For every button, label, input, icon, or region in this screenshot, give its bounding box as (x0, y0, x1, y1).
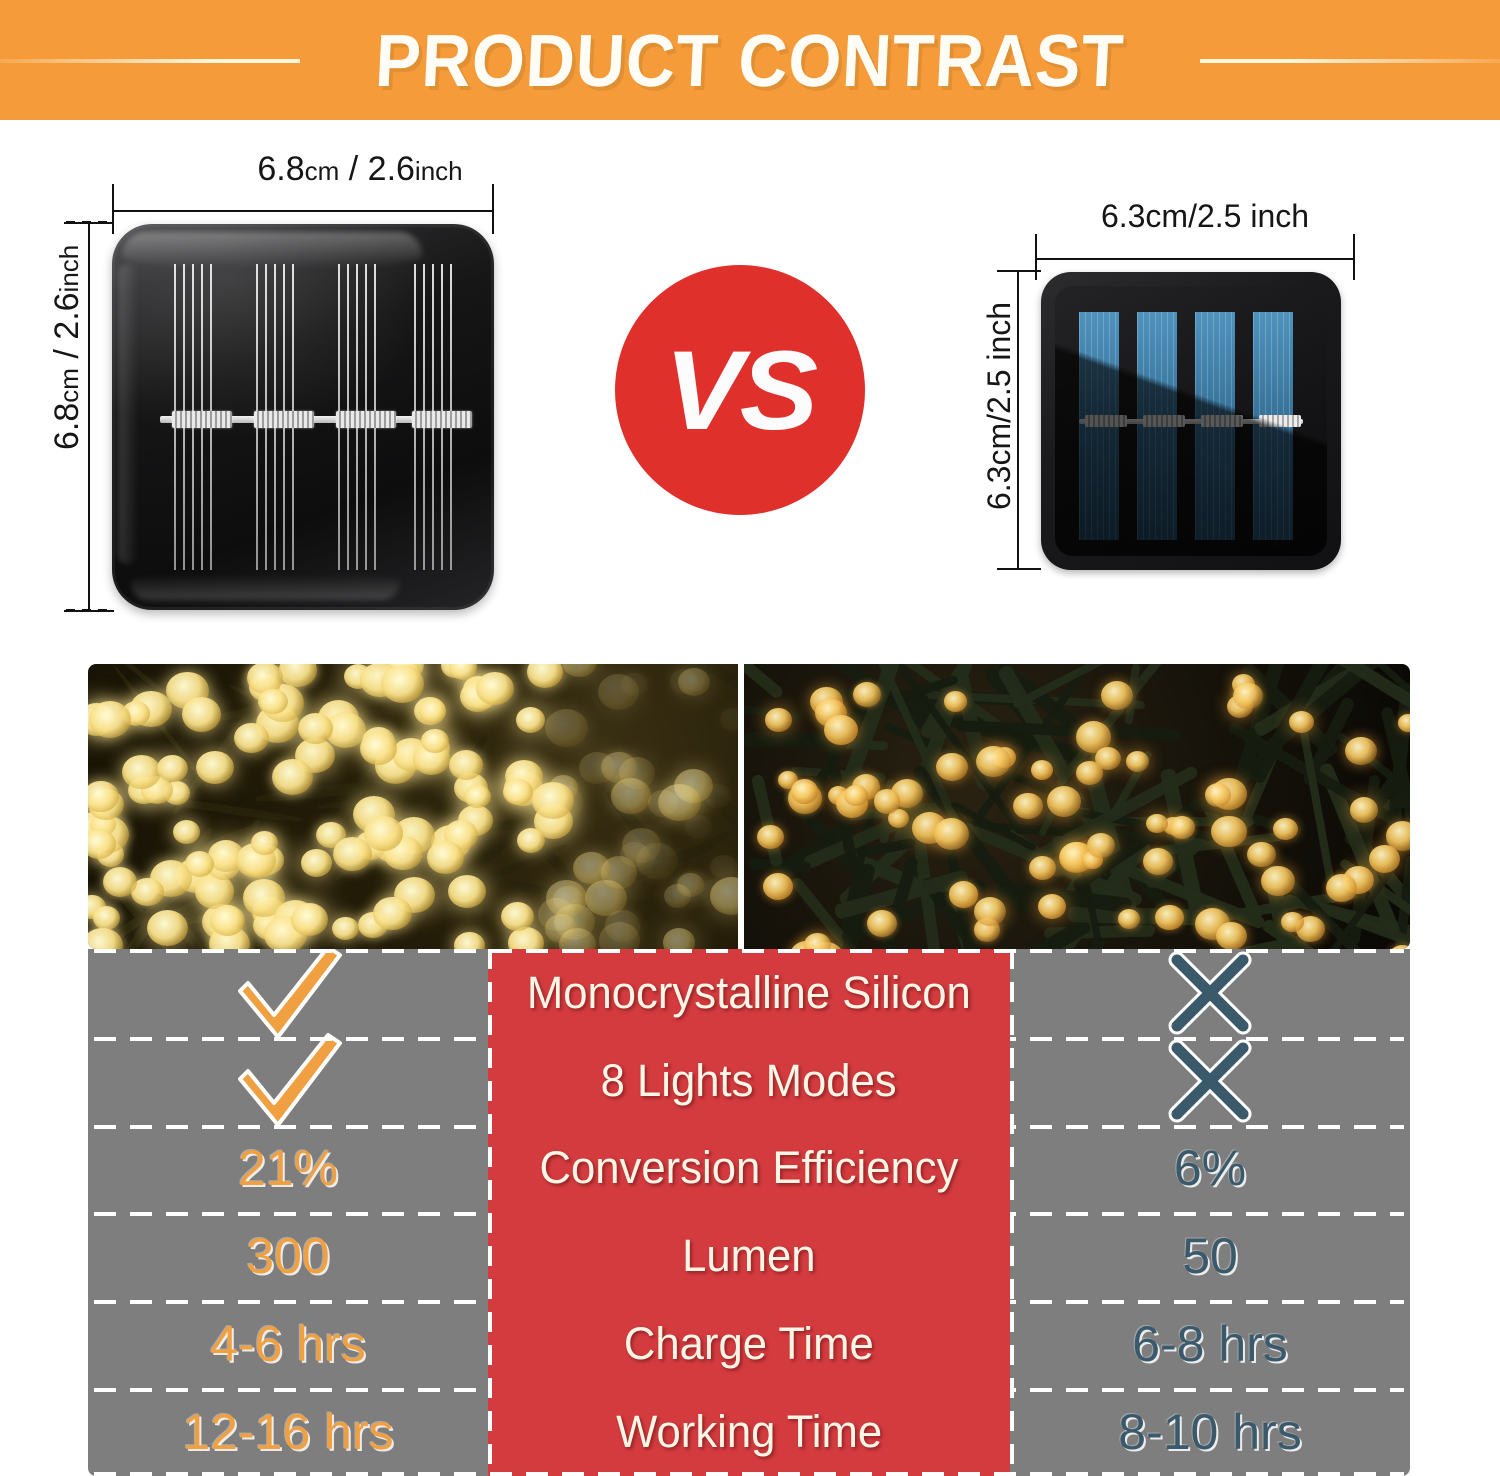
panel-solder-tab (412, 411, 472, 428)
others-height-dimension-line (1017, 270, 1019, 570)
page-title: PRODUCT CONTRAST (350, 18, 1150, 103)
led-bulb (1038, 894, 1066, 919)
led-bulb (1350, 797, 1379, 823)
led-bulb (381, 665, 424, 703)
header-rule-left (0, 59, 300, 63)
led-bulb (1013, 793, 1043, 820)
table-row: Monocrystalline Silicon (88, 949, 1410, 1037)
led-wire (751, 774, 784, 869)
ours-cell: 300 (88, 1212, 488, 1300)
others-height-dimension-label: 6.3cm/2.5 inch (981, 302, 1018, 510)
led-bulb (464, 785, 490, 808)
ours-height-inch-number: 2.6 (48, 292, 86, 339)
led-bulb (1095, 747, 1121, 770)
ours-width-dimension-label: 6.8cm / 2.6inch (180, 150, 540, 189)
led-bulb (182, 697, 221, 731)
feature-cell: 8 Lights Modes (488, 1037, 1010, 1125)
ours-cell: 21% (88, 1125, 488, 1213)
led-bulb (234, 723, 269, 754)
feature-label: Monocrystalline Silicon (527, 967, 971, 1019)
table-row: 4-6 hrsCharge Time6-8 hrs (88, 1300, 1410, 1388)
led-bulb (844, 785, 868, 807)
led-bulb (476, 672, 514, 705)
led-bulb (301, 849, 332, 876)
led-bulb (874, 789, 901, 813)
led-wire (744, 664, 785, 700)
others-cell: 50 (1010, 1212, 1410, 1300)
ours-height-dimension-label: 6.8cm / 2.6inch (48, 245, 87, 450)
led-bulb (122, 755, 161, 789)
led-bulb (704, 784, 731, 807)
others-cell: 6-8 hrs (1010, 1300, 1410, 1388)
led-bulb (93, 906, 120, 930)
led-bulb (934, 818, 969, 850)
panel-gloss-left (118, 264, 138, 564)
ours-cell (88, 1037, 488, 1125)
led-bulb (157, 755, 188, 782)
led-bulb (1087, 833, 1115, 858)
led-bulb (258, 689, 287, 715)
vs-label: VS (665, 326, 816, 455)
led-bulb (1155, 905, 1183, 930)
led-bulb (103, 867, 137, 897)
table-row: 8 Lights Modes (88, 1037, 1410, 1125)
others-cell (1010, 1037, 1410, 1125)
led-bulb (251, 831, 278, 854)
ours-cell (88, 949, 488, 1037)
led-bulb (791, 779, 818, 804)
check-icon (232, 1033, 344, 1129)
others-width-dimension-line (1035, 258, 1355, 260)
photo-comparison-strip (88, 664, 1410, 949)
ours-width-unit-cm: cm (305, 156, 340, 186)
led-bulb (291, 903, 328, 935)
led-bulb (360, 732, 397, 765)
led-bulb (501, 902, 534, 931)
others-led-photo (744, 664, 1410, 949)
led-bulb (611, 778, 651, 814)
led-bulb (545, 709, 588, 747)
led-bulb (1169, 816, 1195, 839)
led-bulb (1247, 842, 1275, 868)
led-bulb (373, 897, 411, 931)
led-bulb (1211, 816, 1246, 848)
led-bulb (196, 751, 234, 784)
others-width-dimension-label: 6.3cm/2.5 inch (1045, 198, 1365, 235)
comparison-table: Monocrystalline Silicon8 Lights Modes21%… (88, 949, 1410, 1476)
ours-led-photo (88, 664, 738, 949)
others-panel-inner (1055, 286, 1327, 556)
led-bulb (677, 873, 704, 897)
ours-dimension-tick-bottom (66, 609, 112, 612)
ours-solar-panel-image (112, 224, 494, 610)
led-bulb (516, 707, 545, 733)
led-bulb (1031, 760, 1053, 780)
table-row: 300Lumen50 (88, 1212, 1410, 1300)
led-bulb (1029, 856, 1056, 881)
led-bulb (1345, 737, 1376, 765)
feature-label: 8 Lights Modes (601, 1055, 897, 1107)
led-bulb (598, 674, 639, 710)
others-value: 8-10 hrs (1118, 1403, 1301, 1461)
led-bulb (1216, 922, 1247, 949)
led-bulb (562, 664, 597, 677)
ours-panel-group: 6.8cm / 2.6inch 6.8cm / 2.6inch (60, 150, 540, 650)
led-bulb (449, 750, 483, 780)
ours-width-unit-inch: inch (415, 156, 463, 186)
led-bulb (89, 701, 132, 739)
led-bulb (678, 668, 710, 696)
led-bulb (545, 914, 577, 943)
led-bulb (936, 753, 967, 781)
others-cell: 6% (1010, 1125, 1410, 1213)
table-column-divider-left (488, 949, 492, 1476)
others-value: 6-8 hrs (1132, 1315, 1288, 1373)
ours-width-number: 6.8 (257, 150, 304, 188)
feature-label: Charge Time (624, 1318, 874, 1370)
ours-width-inch-number: 2.6 (368, 150, 415, 188)
led-wire (744, 732, 827, 748)
led-bulb (804, 933, 831, 949)
led-bulb (419, 699, 446, 723)
ours-cell: 12-16 hrs (88, 1388, 488, 1476)
led-bulb (272, 759, 313, 795)
others-value: 50 (1182, 1227, 1238, 1285)
ours-dimension-tick-top (66, 221, 112, 224)
led-bulb (454, 932, 484, 949)
ours-value: 12-16 hrs (182, 1403, 393, 1461)
cross-icon (1167, 950, 1253, 1036)
others-cell (1010, 949, 1410, 1037)
led-bulb (448, 875, 486, 908)
others-panel-shadow-overlay (1055, 286, 1327, 556)
vs-badge: VS (615, 265, 865, 515)
led-bulb (949, 881, 978, 907)
led-bulb (1126, 751, 1149, 772)
led-bulb (147, 910, 188, 946)
others-solar-panel-image (1041, 272, 1341, 570)
ours-height-number: 6.8 (48, 403, 86, 450)
table-row: 12-16 hrsWorking Time8-10 hrs (88, 1388, 1410, 1476)
led-bulb (527, 664, 563, 688)
table-row: 21%Conversion Efficiency6% (88, 1125, 1410, 1213)
feature-label: Conversion Efficiency (540, 1142, 959, 1194)
others-panel-group: 6.3cm/2.5 inch 6.3cm/2.5 inch (975, 180, 1395, 650)
led-bulb (332, 917, 358, 940)
led-bulb (720, 708, 738, 731)
led-bulb (974, 897, 1007, 926)
others-value: 6% (1174, 1139, 1246, 1197)
others-cell: 8-10 hrs (1010, 1388, 1410, 1476)
led-bulb (763, 873, 793, 900)
feature-cell: Working Time (488, 1388, 1010, 1476)
led-bulb (710, 855, 737, 879)
feature-cell: Lumen (488, 1212, 1010, 1300)
ours-value: 300 (246, 1227, 329, 1285)
led-bulb (1289, 711, 1313, 733)
led-bulb (1273, 818, 1297, 840)
panel-gloss-top (122, 232, 422, 268)
panel-solder-tab (336, 411, 396, 428)
panel-solder-tab (172, 411, 232, 428)
feature-cell: Monocrystalline Silicon (488, 949, 1010, 1037)
led-bulb (658, 784, 701, 821)
led-bulb (1205, 783, 1231, 807)
cross-icon (1167, 1038, 1253, 1124)
led-bulb (1261, 866, 1295, 897)
feature-cell: Conversion Efficiency (488, 1125, 1010, 1213)
feature-label: Lumen (682, 1230, 815, 1282)
led-bulb (1233, 683, 1262, 709)
led-bulb (601, 752, 637, 784)
led-bulb (421, 729, 448, 753)
led-bulb (944, 691, 967, 712)
led-bulb (1281, 912, 1304, 933)
table-column-divider-right (1010, 949, 1014, 1476)
led-bulb (663, 928, 695, 949)
check-icon (232, 949, 344, 1041)
led-bulb (976, 746, 1011, 778)
led-bulb (757, 825, 784, 849)
ours-width-dimension-line (112, 210, 494, 212)
feature-cell: Charge Time (488, 1300, 1010, 1388)
product-contrast-infographic: PRODUCT CONTRAST 6.8cm / 2.6inch 6.8cm /… (0, 0, 1500, 1476)
feature-label: Working Time (616, 1406, 882, 1458)
ours-height-dimension-line (88, 222, 90, 612)
header-rule-right (1200, 59, 1500, 63)
ours-height-unit-inch: inch (54, 245, 84, 293)
led-bulb (824, 715, 858, 745)
ours-value: 4-6 hrs (210, 1315, 366, 1373)
led-bulb (173, 820, 200, 844)
ours-cell: 4-6 hrs (88, 1300, 488, 1388)
led-bulb (88, 781, 119, 812)
panel-solder-tab (254, 411, 314, 428)
led-bulb (765, 708, 791, 732)
ours-value: 21% (238, 1139, 338, 1197)
led-bulb (605, 910, 640, 941)
panel-comparison-section: 6.8cm / 2.6inch 6.8cm / 2.6inch (0, 120, 1500, 660)
led-bulb (700, 879, 730, 905)
ours-height-unit-cm: cm (54, 368, 84, 403)
panel-gloss-bottom (130, 574, 400, 600)
led-bulb (333, 837, 372, 871)
led-bulb (532, 782, 575, 820)
led-bulb (546, 880, 587, 916)
header-banner: PRODUCT CONTRAST (0, 0, 1500, 120)
led-bulb (427, 841, 464, 873)
